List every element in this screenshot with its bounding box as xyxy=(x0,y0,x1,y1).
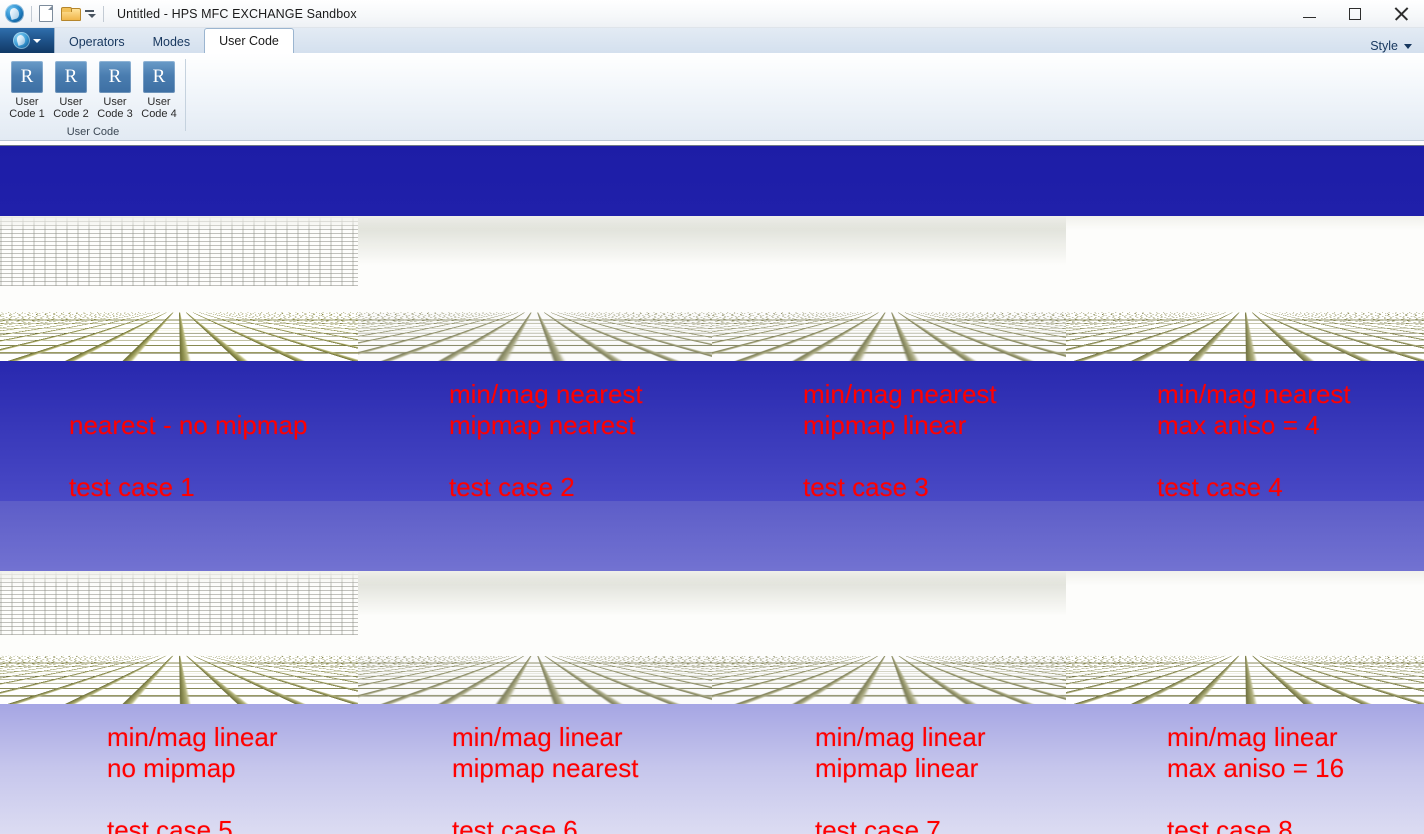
caption-case-6: test case 6 xyxy=(452,815,638,834)
tab-operators[interactable]: Operators xyxy=(55,31,139,53)
ribbon-group-separator xyxy=(185,59,186,131)
ribbon-panel: R User Code 1 R User Code 2 R User Code … xyxy=(0,53,1424,141)
caption-mode-3: min/mag nearest mipmap linear xyxy=(803,379,997,440)
render-row-top xyxy=(0,216,1424,361)
render-tile-2 xyxy=(358,216,712,361)
window-title: Untitled - HPS MFC EXCHANGE Sandbox xyxy=(117,7,357,21)
document-icon[interactable] xyxy=(39,5,53,22)
user-code-glyph-icon: R xyxy=(11,61,43,93)
caption-mode-5: min/mag linear no mipmap xyxy=(107,722,278,783)
ribbon-group-title: User Code xyxy=(0,126,186,138)
user-code-1-label: User Code 1 xyxy=(9,96,44,120)
caption-case-3: test case 3 xyxy=(803,472,997,503)
caption-case-1: test case 1 xyxy=(69,472,307,503)
title-bar: Untitled - HPS MFC EXCHANGE Sandbox xyxy=(0,0,1424,28)
render-tile-3 xyxy=(712,216,1066,361)
caption-tile-5: min/mag linear no mipmap test case 5 xyxy=(107,691,278,834)
minimize-icon[interactable] xyxy=(1286,0,1332,28)
caption-tile-1: nearest - no mipmap test case 1 xyxy=(69,379,307,534)
user-code-glyph-icon: R xyxy=(55,61,87,93)
caption-case-8: test case 8 xyxy=(1167,815,1344,834)
style-label: Style xyxy=(1370,39,1398,53)
caption-case-7: test case 7 xyxy=(815,815,986,834)
qat-divider-2 xyxy=(103,6,104,22)
caption-mode-6: min/mag linear mipmap nearest xyxy=(452,722,638,783)
caption-mode-2: min/mag nearest mipmap nearest xyxy=(449,379,643,440)
user-code-3-button[interactable]: R User Code 3 xyxy=(94,59,136,120)
user-code-glyph-icon: R xyxy=(143,61,175,93)
caption-tile-7: min/mag linear mipmap linear test case 7 xyxy=(815,691,986,834)
caption-tile-2: min/mag nearest mipmap nearest test case… xyxy=(449,348,643,534)
render-tile-5 xyxy=(0,571,358,704)
user-code-3-label: User Code 3 xyxy=(97,96,132,120)
user-code-4-label: User Code 4 xyxy=(141,96,176,120)
user-code-2-label: User Code 2 xyxy=(53,96,88,120)
caption-tile-4: min/mag nearest max aniso = 4 test case … xyxy=(1157,348,1351,534)
tab-user-code[interactable]: User Code xyxy=(204,28,294,53)
render-tile-7 xyxy=(712,571,1066,704)
render-tile-1 xyxy=(0,216,358,361)
orb-icon[interactable] xyxy=(5,4,24,23)
caption-case-4: test case 4 xyxy=(1157,472,1351,503)
app-orb-button[interactable] xyxy=(0,28,55,53)
ribbon-group-user-code: R User Code 1 R User Code 2 R User Code … xyxy=(0,53,186,141)
close-icon[interactable] xyxy=(1378,0,1424,28)
folder-open-icon[interactable] xyxy=(61,7,79,21)
tab-modes[interactable]: Modes xyxy=(139,31,205,53)
ribbon-tab-strip: Operators Modes User Code Style xyxy=(0,28,1424,53)
caption-tile-6: min/mag linear mipmap nearest test case … xyxy=(452,691,638,834)
caption-mode-7: min/mag linear mipmap linear xyxy=(815,722,986,783)
application-window: Untitled - HPS MFC EXCHANGE Sandbox Oper… xyxy=(0,0,1424,834)
render-tile-6 xyxy=(358,571,712,704)
render-tile-4 xyxy=(1066,216,1424,361)
chevron-down-icon[interactable] xyxy=(83,10,96,18)
user-code-1-button[interactable]: R User Code 1 xyxy=(6,59,48,120)
style-selector[interactable]: Style xyxy=(1370,39,1424,53)
user-code-4-button[interactable]: R User Code 4 xyxy=(138,59,180,120)
window-controls xyxy=(1286,0,1424,27)
quick-access-toolbar xyxy=(0,0,107,27)
render-row-bottom xyxy=(0,571,1424,704)
maximize-icon[interactable] xyxy=(1332,0,1378,28)
user-code-2-button[interactable]: R User Code 2 xyxy=(50,59,92,120)
user-code-glyph-icon: R xyxy=(99,61,131,93)
3d-render-viewport[interactable]: nearest - no mipmap test case 1 min/mag … xyxy=(0,145,1424,834)
caption-case-5: test case 5 xyxy=(107,815,278,834)
app-orb-icon xyxy=(13,32,30,49)
caption-mode-1: nearest - no mipmap xyxy=(69,410,307,440)
caption-case-2: test case 2 xyxy=(449,472,643,503)
caption-tile-8: min/mag linear max aniso = 16 test case … xyxy=(1167,691,1344,834)
chevron-down-icon xyxy=(33,39,41,43)
caption-mode-4: min/mag nearest max aniso = 4 xyxy=(1157,379,1351,440)
render-tile-8 xyxy=(1066,571,1424,704)
chevron-down-icon xyxy=(1404,44,1412,49)
caption-mode-8: min/mag linear max aniso = 16 xyxy=(1167,722,1344,783)
caption-tile-3: min/mag nearest mipmap linear test case … xyxy=(803,348,997,534)
qat-divider xyxy=(31,6,32,22)
